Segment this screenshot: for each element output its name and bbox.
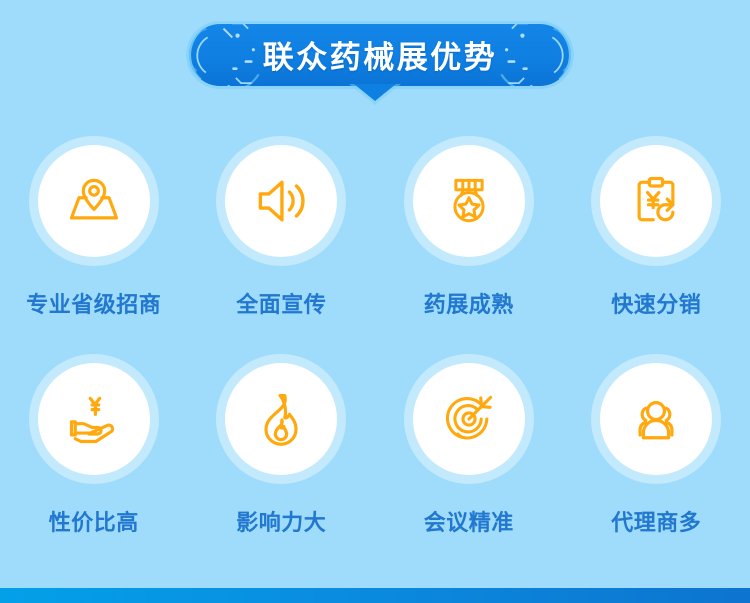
feature-item[interactable]: 专业省级招商: [0, 132, 188, 350]
feature-label: 代理商多: [611, 505, 701, 537]
bottom-accent-bar: [0, 588, 750, 603]
feature-item[interactable]: 快速分销: [563, 132, 750, 350]
feature-item[interactable]: 全面宣传: [188, 132, 376, 350]
feature-icon-circle: [413, 145, 525, 257]
feature-label: 影响力大: [236, 505, 326, 537]
target-dart-icon: [439, 389, 499, 449]
feature-icon-circle: [225, 145, 337, 257]
page-title: 联众药械展优势: [189, 24, 571, 86]
flame-icon: [251, 389, 311, 449]
banner-section: 联众药械展优势: [0, 24, 750, 96]
feature-item[interactable]: 代理商多: [563, 350, 750, 568]
feature-icon-circle: [413, 363, 525, 475]
clipboard-yen-refresh-icon: [626, 171, 686, 231]
feature-label: 药展成熟: [424, 287, 514, 319]
feature-icon-circle: [225, 363, 337, 475]
speaker-icon: [251, 171, 311, 231]
feature-icon-circle: [600, 363, 712, 475]
hand-yen-icon: [64, 389, 124, 449]
feature-icon-circle: [38, 145, 150, 257]
feature-item[interactable]: 药展成熟: [375, 132, 563, 350]
feature-label: 会议精准: [424, 505, 514, 537]
feature-item[interactable]: 会议精准: [375, 350, 563, 568]
feature-item[interactable]: 影响力大: [188, 350, 376, 568]
feature-label: 性价比高: [49, 505, 139, 537]
title-banner: 联众药械展优势: [189, 24, 571, 86]
map-pin-icon: [64, 171, 124, 231]
feature-icon-circle: [600, 145, 712, 257]
feature-item[interactable]: 性价比高: [0, 350, 188, 568]
promo-page: 联众药械展优势 专业省级招商: [0, 0, 750, 603]
feature-label: 快速分销: [611, 287, 701, 319]
feature-grid: 专业省级招商 全面宣传: [0, 132, 750, 568]
chevron-down-icon: [354, 84, 396, 101]
feature-label: 专业省级招商: [26, 287, 161, 319]
medal-icon: [439, 171, 499, 231]
people-group-icon: [626, 389, 686, 449]
feature-label: 全面宣传: [236, 287, 326, 319]
feature-icon-circle: [38, 363, 150, 475]
